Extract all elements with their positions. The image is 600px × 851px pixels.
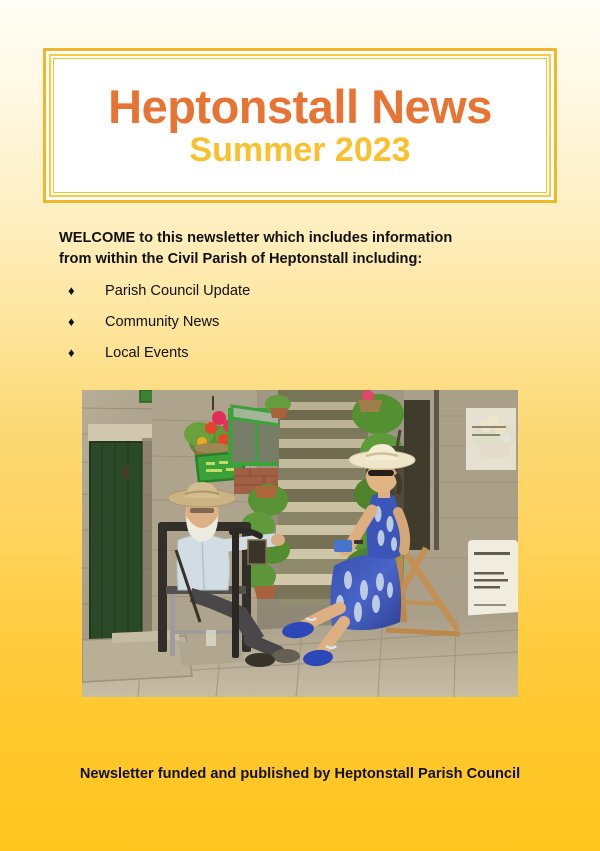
masthead-content: Heptonstall News Summer 2023 — [53, 58, 547, 193]
cover-photograph — [82, 390, 518, 697]
list-item-label: Parish Council Update — [105, 283, 250, 299]
masthead-banner: Heptonstall News Summer 2023 — [43, 48, 557, 203]
footer-credit: Newsletter funded and published by Hepto… — [80, 766, 520, 782]
welcome-line-1: WELCOME to this newsletter which include… — [59, 228, 549, 249]
masthead-border-inner: Heptonstall News Summer 2023 — [49, 54, 551, 197]
page-title: Heptonstall News — [108, 82, 492, 131]
list-item-label: Community News — [105, 314, 219, 330]
contents-list: ♦ Parish Council Update ♦ Community News… — [60, 283, 540, 376]
welcome-line-2: from within the Civil Parish of Heptonst… — [59, 249, 549, 270]
footer: Newsletter funded and published by Hepto… — [0, 765, 600, 783]
diamond-bullet-icon: ♦ — [60, 346, 105, 359]
diamond-bullet-icon: ♦ — [60, 284, 105, 297]
diamond-bullet-icon: ♦ — [60, 315, 105, 328]
issue-subtitle: Summer 2023 — [189, 133, 410, 169]
newsletter-cover-page: Heptonstall News Summer 2023 WELCOME to … — [0, 0, 600, 851]
list-item: ♦ Community News — [60, 314, 540, 345]
list-item: ♦ Local Events — [60, 345, 540, 376]
list-item: ♦ Parish Council Update — [60, 283, 540, 314]
list-item-label: Local Events — [105, 345, 189, 361]
welcome-paragraph: WELCOME to this newsletter which include… — [59, 228, 549, 269]
